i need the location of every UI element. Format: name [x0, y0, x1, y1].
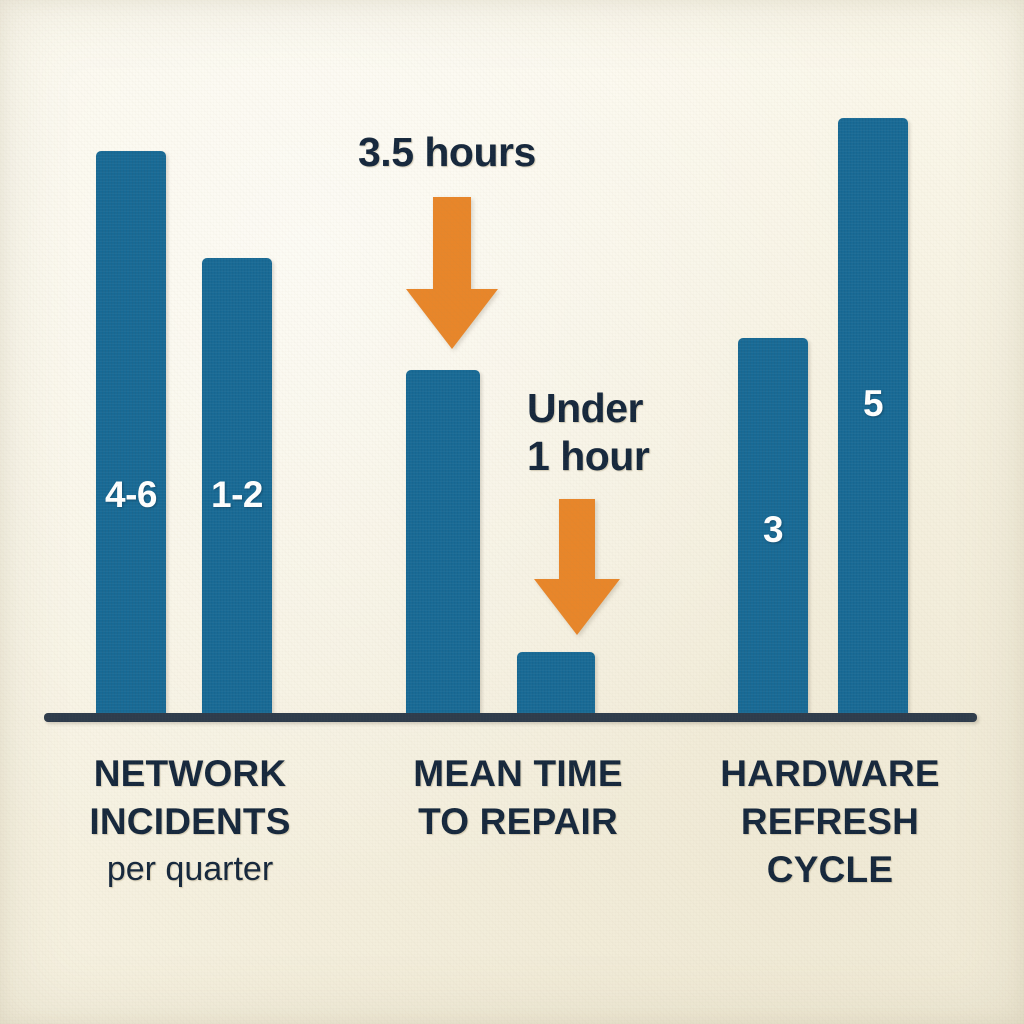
category-label-network-incidents: NETWORK INCIDENTS per quarter: [40, 750, 340, 892]
category-title-mean-time-to-repair: MEAN TIME TO REPAIR: [368, 750, 668, 846]
category-label-mean-time-to-repair: MEAN TIME TO REPAIR: [368, 750, 668, 846]
bar-network-incidents-before[interactable]: [96, 151, 166, 713]
bar-value-network-incidents-after: 1-2: [202, 474, 272, 516]
bar-value-hardware-refresh-current: 3: [738, 509, 808, 551]
category-title-network-incidents: NETWORK INCIDENTS: [40, 750, 340, 846]
bar-mean-time-to-repair-before[interactable]: [406, 370, 480, 713]
plot-area: 4-6 1-2 3.5 hours Under 1 hour 3 5 NETWO…: [0, 0, 1024, 1024]
bar-value-hardware-refresh-target: 5: [838, 383, 908, 425]
category-label-hardware-refresh-cycle: HARDWARE REFRESH CYCLE: [680, 750, 980, 894]
annotation-mttr-before-text: 3.5 hours: [358, 128, 536, 176]
category-title-hardware-refresh-cycle: HARDWARE REFRESH CYCLE: [680, 750, 980, 894]
axis-baseline: [44, 713, 977, 722]
bar-mean-time-to-repair-after[interactable]: [517, 652, 595, 713]
category-subtitle-network-incidents: per quarter: [40, 846, 340, 892]
bar-value-network-incidents-before: 4-6: [96, 474, 166, 516]
down-arrow-icon-mttr-after: [534, 499, 620, 635]
annotation-mttr-after-text: Under 1 hour: [527, 384, 649, 480]
chart-canvas: 4-6 1-2 3.5 hours Under 1 hour 3 5 NETWO…: [0, 0, 1024, 1024]
down-arrow-icon-mttr-before: [406, 197, 498, 349]
